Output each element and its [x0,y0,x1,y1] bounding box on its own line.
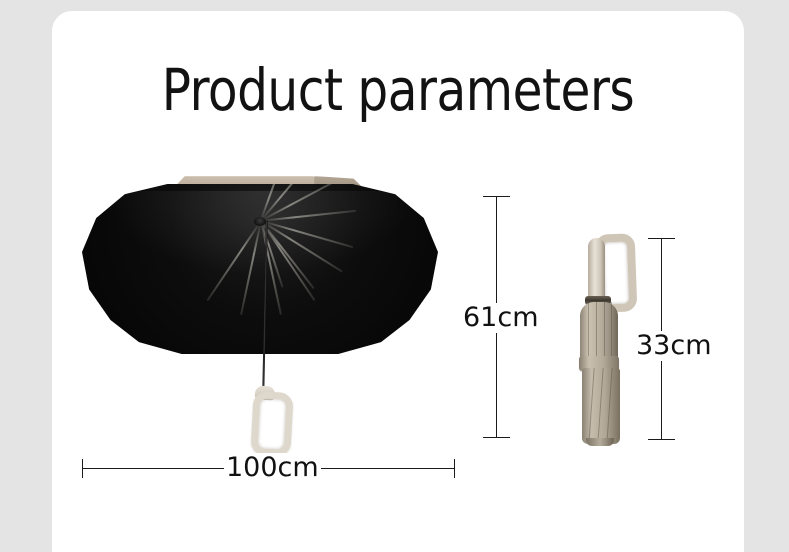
fold-crease [606,368,613,444]
fold-crease [611,302,612,364]
umbrella-open-illustration [82,172,438,452]
page-title: Product parameters [76,55,720,125]
fold-crease [604,302,605,364]
umbrella-folded-illustration [574,232,636,447]
dimension-label-33cm: 33cm [634,331,714,361]
fold-crease [588,302,589,364]
fold-crease [597,368,604,444]
folded-tip [586,438,614,446]
canopy-rib [206,221,261,301]
product-parameters-image: Product parameters [0,0,789,552]
canopy-rib [261,221,354,249]
dimension-tick-bottom [483,437,510,438]
dimension-label-100cm: 100cm [224,453,321,483]
canopy-rib [260,221,342,273]
fold-crease [596,302,597,364]
canopy-underside [82,184,438,354]
dimension-label-61cm: 61cm [461,303,541,333]
dimension-tick-bottom [648,439,675,440]
folded-body-upper [580,302,618,364]
dimension-tick-right [454,459,455,478]
canopy-sheen [103,191,416,276]
handle-loop [250,391,293,457]
folded-body-lower [582,368,620,444]
fold-crease [588,368,595,444]
folded-handle-grip [588,238,605,302]
